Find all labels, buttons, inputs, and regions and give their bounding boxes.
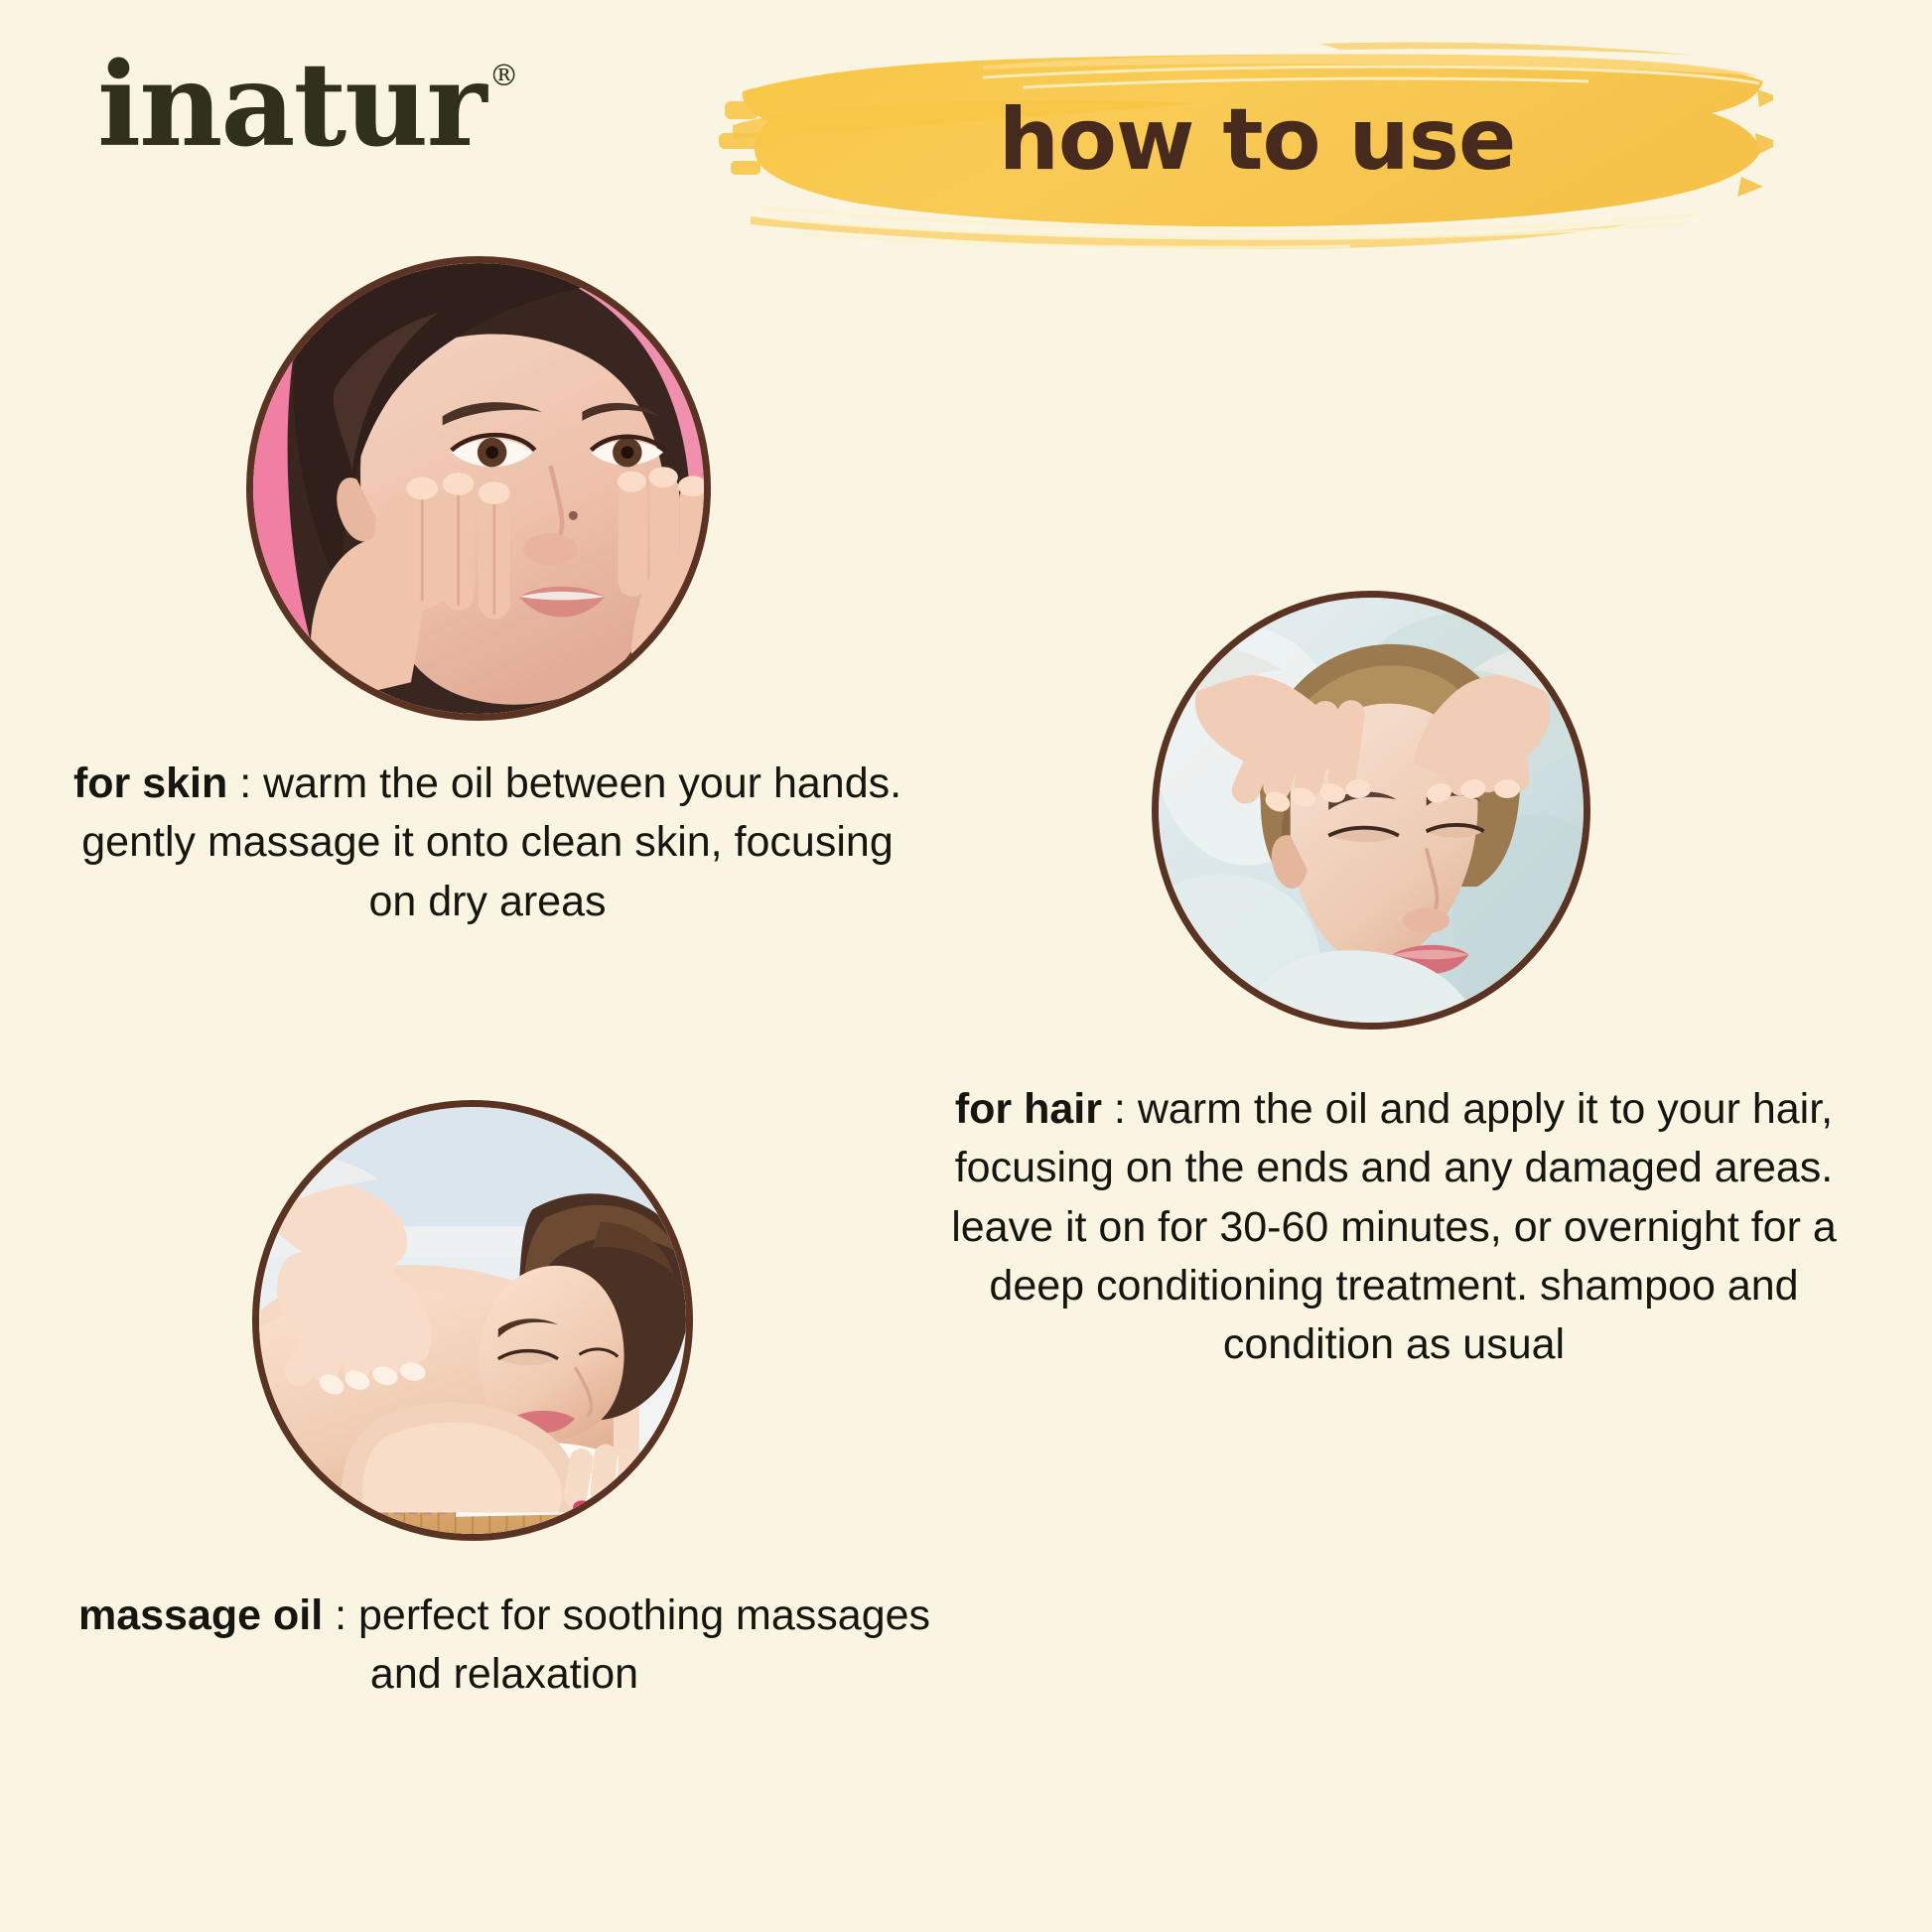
photo-massage-oil	[252, 1100, 693, 1541]
photo-for-hair	[1152, 591, 1590, 1030]
caption-separator-massage: :	[323, 1591, 358, 1639]
back-massage-image	[259, 1107, 686, 1534]
caption-for-skin: for skin : warm the oil between your han…	[60, 755, 915, 931]
brand-logo: inatur ®	[97, 48, 519, 163]
caption-body-massage: perfect for soothing massages and relaxa…	[358, 1591, 930, 1698]
caption-label-massage: massage oil	[78, 1591, 323, 1639]
caption-for-hair: for hair : warm the oil and apply it to …	[923, 1080, 1864, 1375]
caption-separator-hair: :	[1102, 1085, 1138, 1133]
caption-label-hair: for hair	[955, 1085, 1102, 1133]
how-to-use-infographic: inatur ®	[0, 0, 1932, 1932]
page-title: how to use	[685, 30, 1773, 250]
photo-for-skin	[246, 256, 711, 721]
scalp-massage-image	[1159, 598, 1584, 1023]
brand-name: inatur	[97, 48, 485, 163]
woman-applying-oil-to-face-image	[253, 263, 704, 714]
caption-separator-skin: :	[227, 759, 263, 807]
header-banner: how to use	[685, 30, 1773, 250]
caption-label-skin: for skin	[73, 759, 227, 807]
caption-massage-oil: massage oil : perfect for soothing massa…	[58, 1587, 951, 1705]
registered-trademark-icon: ®	[489, 62, 519, 91]
